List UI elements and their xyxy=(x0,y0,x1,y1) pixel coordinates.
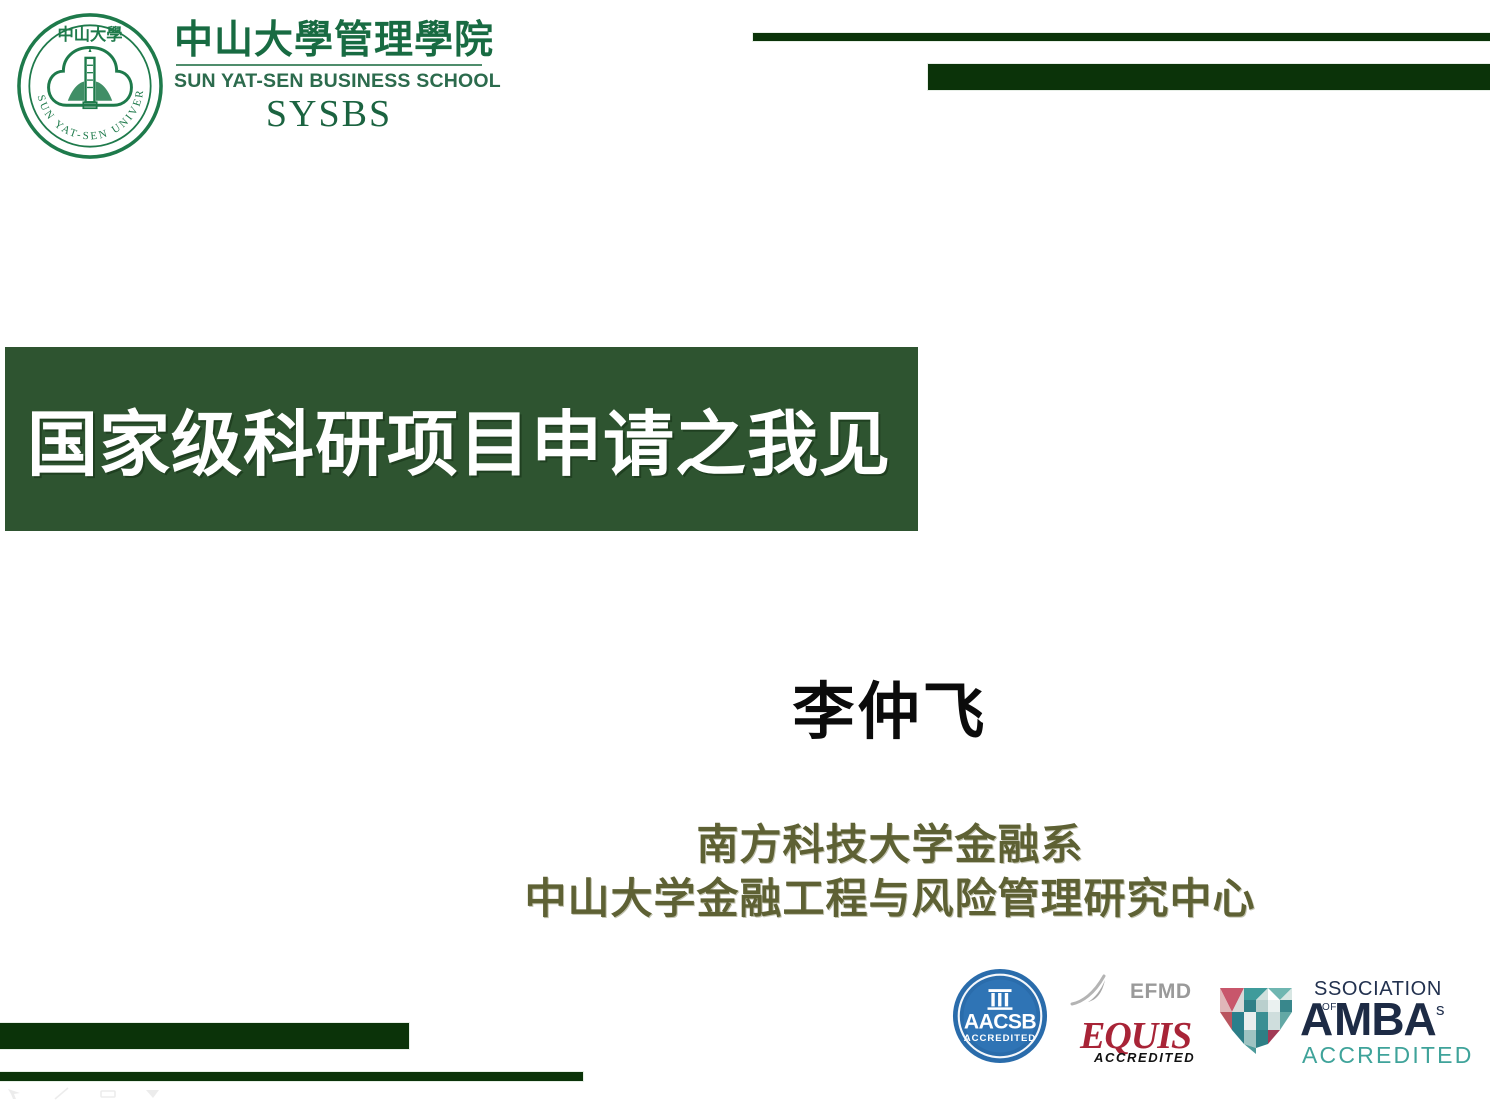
efmd-label: EFMD xyxy=(1130,980,1192,1004)
decorative-bar-bottom-thin xyxy=(0,1072,583,1081)
school-name-text: 中山大學管理學院 SUN YAT-SEN BUSINESS SCHOOL SYS… xyxy=(174,20,484,135)
amba-accredited-logo: SSOCIATION A OF MBA s ACCREDITED xyxy=(1218,966,1456,1066)
author-block: 李仲飞 南方科技大学金融系 中山大学金融工程与风险管理研究中心 xyxy=(420,678,1360,926)
efmd-equis-accredited-logo: EFMD EQUIS ACCREDITED xyxy=(1068,966,1198,1066)
amba-accredited-label: ACCREDITED xyxy=(1302,1042,1474,1069)
equis-accredited-label: ACCREDITED xyxy=(1094,1050,1195,1065)
pen-icon xyxy=(52,1087,74,1101)
school-name-divider xyxy=(176,64,482,66)
svg-text:AACSB: AACSB xyxy=(964,1010,1037,1033)
decorative-bar-top-thin xyxy=(753,33,1490,41)
affiliation-line: 南方科技大学金融系 xyxy=(420,818,1360,872)
decorative-bar-top-thick xyxy=(928,64,1490,90)
accreditation-logos: AACSB ACCREDITED EFMD EQUIS ACCREDITED xyxy=(952,963,1464,1068)
efmd-swoosh-icon xyxy=(1068,968,1128,1012)
aacsb-accredited-logo-icon: AACSB ACCREDITED xyxy=(952,968,1048,1064)
presentation-slide: 中山大學 SUN YAT-SEN UNIVERSITY 中山大學管理學院 SUN… xyxy=(0,0,1490,1107)
author-name: 李仲飞 xyxy=(420,678,1360,746)
amba-superscript-label: s xyxy=(1436,1000,1445,1020)
slide-title-block: 国家级科研项目申请之我见 xyxy=(5,347,918,531)
school-name-english: SUN YAT-SEN BUSINESS SCHOOL xyxy=(174,70,484,93)
highlighter-icon xyxy=(98,1087,120,1101)
decorative-bar-bottom-thick xyxy=(0,1023,409,1049)
sysbs-logo-lockup: 中山大學 SUN YAT-SEN UNIVERSITY 中山大學管理學院 SUN… xyxy=(14,8,484,158)
svg-text:ACCREDITED: ACCREDITED xyxy=(964,1032,1036,1043)
ghost-annotation-toolbar xyxy=(6,1083,206,1105)
sun-yat-sen-university-seal-icon: 中山大學 SUN YAT-SEN UNIVERSITY xyxy=(16,12,164,160)
eraser-icon xyxy=(144,1087,166,1101)
school-abbreviation: SYSBS xyxy=(174,95,484,135)
affiliation-line: 中山大学金融工程与风险管理研究中心 xyxy=(420,872,1360,926)
slide-title: 国家级科研项目申请之我见 xyxy=(5,388,891,490)
amba-diamond-icon xyxy=(1218,978,1298,1054)
amba-mba-label: MBA xyxy=(1334,996,1436,1042)
svg-text:中山大學: 中山大學 xyxy=(57,25,122,44)
pointer-icon xyxy=(6,1087,28,1101)
school-name-chinese: 中山大學管理學院 xyxy=(174,20,484,61)
affiliation-list: 南方科技大学金融系 中山大学金融工程与风险管理研究中心 xyxy=(420,818,1360,926)
